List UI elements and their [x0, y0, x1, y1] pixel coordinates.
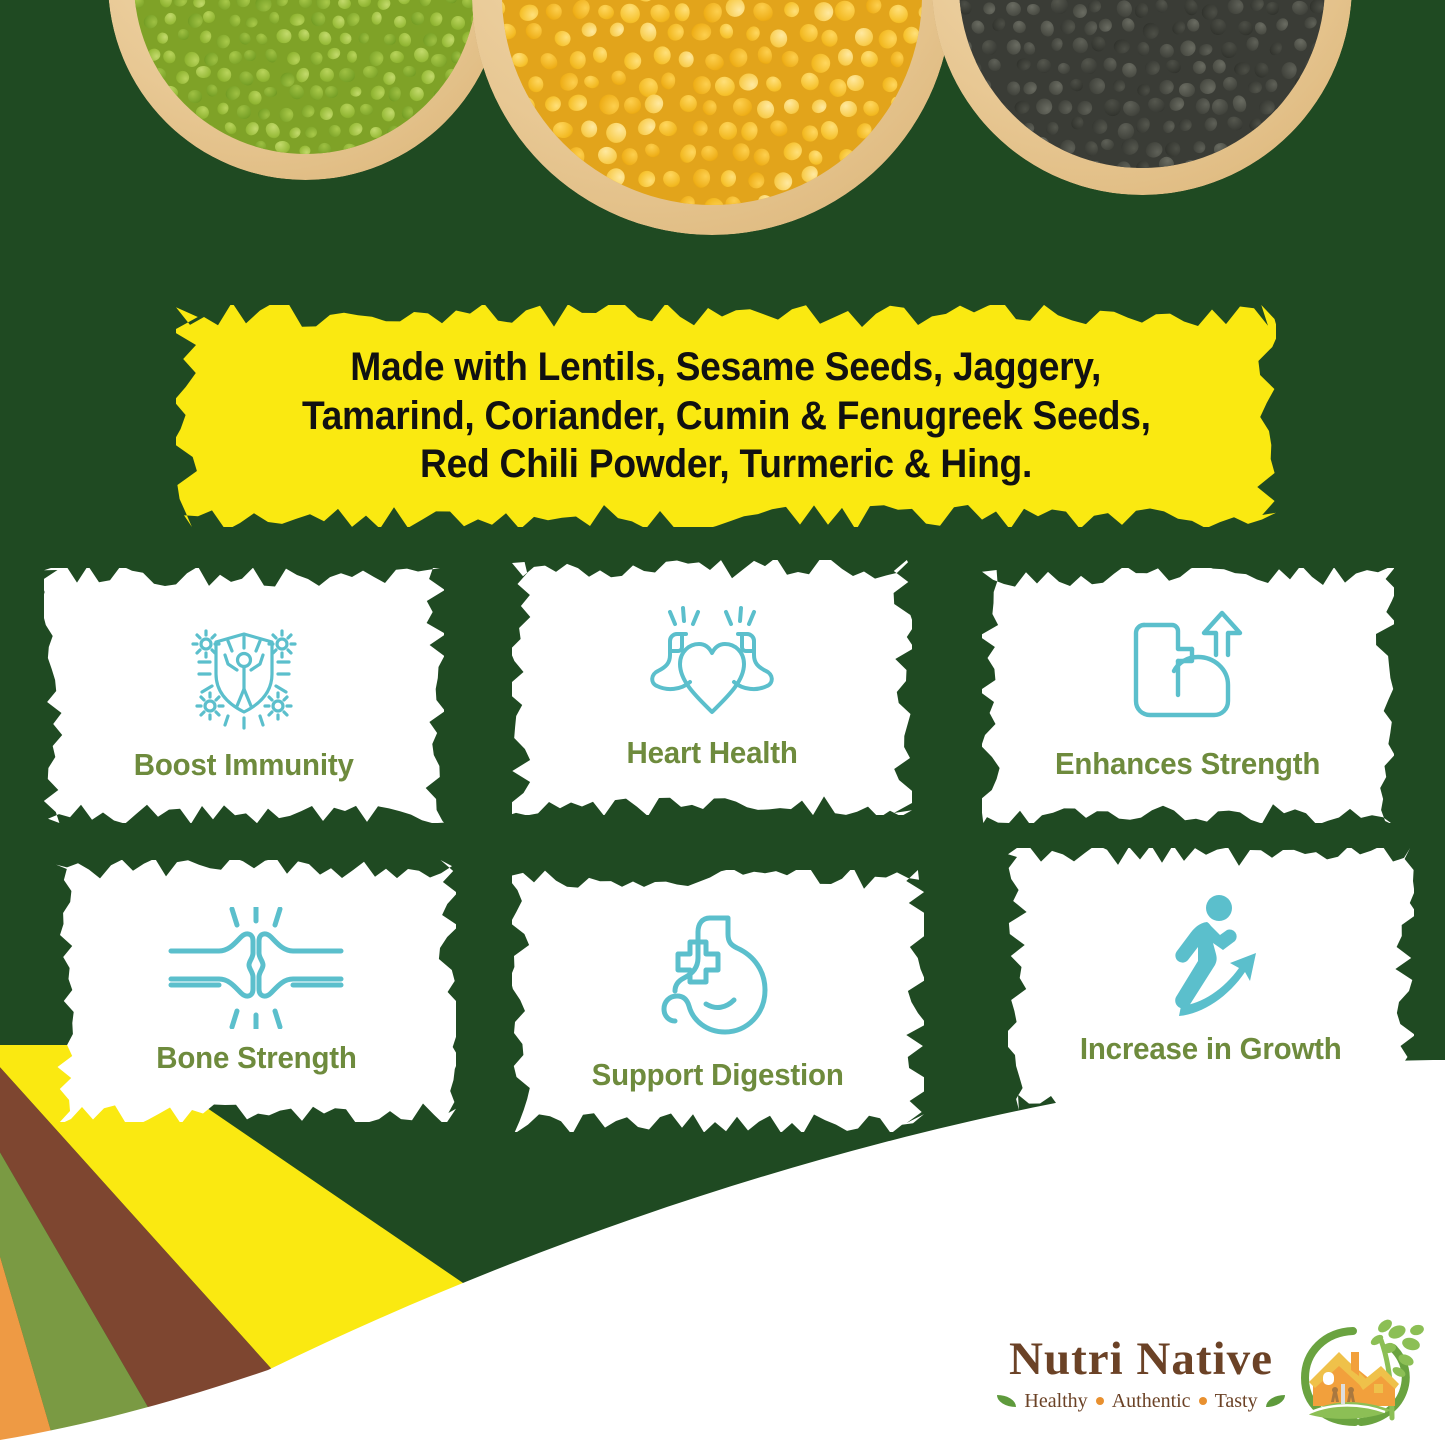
leaf-icon	[1266, 1395, 1285, 1407]
benefit-card-enhances-strength[interactable]: Enhances Strength	[982, 568, 1394, 823]
farmhouse-tree-emblem	[1293, 1318, 1425, 1430]
running-person-arrow-icon	[1141, 892, 1281, 1031]
green-mung-seeds	[134, 0, 477, 154]
ingredients-text-block: Made with Lentils, Sesame Seeds, Jaggery…	[176, 305, 1276, 527]
stomach-cross-icon	[648, 910, 788, 1051]
yellow-dal-bowl	[472, 0, 952, 235]
heart-biceps-icon	[638, 604, 786, 733]
benefit-card-heart-health[interactable]: Heart Health	[512, 560, 912, 815]
bicep-up-arrow-icon	[1122, 609, 1254, 736]
ingredients-line-1: Made with Lentils, Sesame Seeds, Jaggery…	[351, 343, 1102, 392]
leaf-icon	[997, 1395, 1016, 1407]
benefit-label: Support Digestion	[592, 1057, 844, 1093]
ingredients-line-3: Red Chili Powder, Turmeric & Hing.	[420, 440, 1032, 489]
black-urad-bowl	[932, 0, 1352, 195]
benefit-label: Heart Health	[626, 735, 797, 771]
black-urad-seeds	[959, 0, 1325, 168]
benefit-card-support-digestion[interactable]: Support Digestion	[512, 870, 924, 1132]
bullet-dot-icon	[1199, 1397, 1207, 1405]
poster-canvas: Made with Lentils, Sesame Seeds, Jaggery…	[0, 0, 1445, 1445]
green-mung-bowl	[108, 0, 503, 180]
benefit-label: Enhances Strength	[1055, 746, 1320, 782]
benefit-label: Bone Strength	[156, 1040, 356, 1076]
benefit-card-bone-strength[interactable]: Bone Strength	[56, 860, 456, 1122]
shield-person-immunity-icon	[180, 608, 308, 741]
bowl-inner	[959, 0, 1325, 168]
bullet-dot-icon	[1096, 1397, 1104, 1405]
brand-tagline: Healthy Authentic Tasty	[997, 1390, 1284, 1413]
benefit-card-boost-immunity[interactable]: Boost Immunity	[44, 568, 444, 823]
tagline-word-authentic: Authentic	[1112, 1390, 1191, 1413]
brand-wordmark-block: Nutri Native Healthy Authentic Tasty	[995, 1336, 1287, 1413]
tagline-word-tasty: Tasty	[1215, 1390, 1258, 1413]
bone-joint-icon	[165, 907, 347, 1034]
benefits-grid: Boost Immunity Heart Hea	[0, 560, 1445, 1140]
yellow-dal-seeds	[502, 0, 922, 205]
benefit-label: Increase in Growth	[1080, 1031, 1342, 1067]
bowl-inner	[502, 0, 922, 205]
hero-lentil-bowls	[0, 0, 1445, 270]
tagline-word-healthy: Healthy	[1024, 1390, 1087, 1413]
bowl-inner	[134, 0, 477, 154]
brand-name: Nutri Native	[1009, 1336, 1273, 1383]
ingredients-banner: Made with Lentils, Sesame Seeds, Jaggery…	[176, 305, 1276, 527]
benefit-label: Boost Immunity	[134, 747, 354, 783]
ingredients-line-2: Tamarind, Coriander, Cumin & Fenugreek S…	[302, 392, 1151, 441]
brand-logo[interactable]: Nutri Native Healthy Authentic Tasty	[995, 1318, 1435, 1430]
benefit-card-increase-in-growth[interactable]: Increase in Growth	[1008, 848, 1414, 1110]
